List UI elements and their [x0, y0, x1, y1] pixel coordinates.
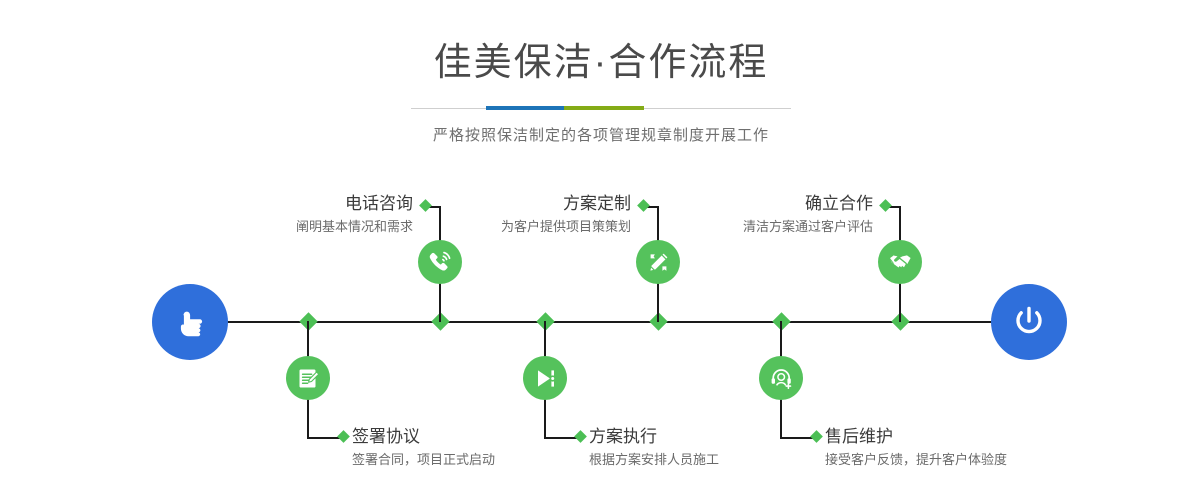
step-label-3: 方案定制 为客户提供项目策策划 — [373, 194, 631, 236]
step-desc-4: 根据方案安排人员施工 — [589, 451, 849, 469]
title-divider — [411, 106, 791, 110]
step-desc-2: 签署合同，项目正式启动 — [352, 451, 612, 469]
step-label-4: 方案执行 根据方案安排人员施工 — [589, 427, 849, 469]
flow-diagram-page: 佳美保洁·合作流程 严格按照保洁制定的各项管理规章制度开展工作 — [0, 0, 1202, 502]
document-pen-icon — [296, 366, 321, 391]
step-node-handshake[interactable] — [878, 240, 922, 284]
power-icon — [1008, 301, 1050, 343]
step-title-5: 确立合作 — [615, 194, 873, 214]
handshake-icon — [887, 249, 913, 275]
step-node-phone[interactable] — [418, 240, 462, 284]
pencil-design-icon — [646, 250, 671, 275]
phone-call-icon — [427, 249, 453, 275]
step-desc-5: 清洁方案通过客户评估 — [615, 218, 873, 236]
step-title-3: 方案定制 — [373, 194, 631, 214]
step-label-5: 确立合作 清洁方案通过客户评估 — [615, 194, 873, 236]
connector-hline-step-2 — [307, 437, 342, 439]
step-node-document[interactable] — [286, 356, 330, 400]
divider-blue-segment — [486, 106, 564, 110]
step-label-6: 售后维护 接受客户反馈，提升客户体验度 — [825, 427, 1100, 469]
page-subtitle: 严格按照保洁制定的各项管理规章制度开展工作 — [0, 124, 1202, 145]
step-node-design[interactable] — [636, 240, 680, 284]
step-desc-6: 接受客户反馈，提升客户体验度 — [825, 451, 1100, 469]
step-title-2: 签署协议 — [352, 427, 612, 447]
label-tip-step-5 — [879, 199, 892, 212]
step-label-2: 签署协议 签署合同，项目正式启动 — [352, 427, 612, 469]
step-node-execute[interactable] — [523, 356, 567, 400]
step-node-support[interactable] — [759, 356, 803, 400]
page-title: 佳美保洁·合作流程 — [0, 44, 1202, 82]
page-header: 佳美保洁·合作流程 严格按照保洁制定的各项管理规章制度开展工作 — [0, 0, 1202, 145]
play-skip-icon — [533, 366, 558, 391]
headset-plus-icon — [769, 366, 794, 391]
pointing-hand-icon — [170, 302, 210, 342]
step-desc-3: 为客户提供项目策策划 — [373, 218, 631, 236]
timeline-start-node[interactable] — [152, 284, 228, 360]
step-title-6: 售后维护 — [825, 427, 1100, 447]
divider-olive-segment — [564, 106, 644, 110]
timeline-end-node[interactable] — [991, 284, 1067, 360]
label-tip-step-2 — [337, 430, 350, 443]
step-title-4: 方案执行 — [589, 427, 849, 447]
